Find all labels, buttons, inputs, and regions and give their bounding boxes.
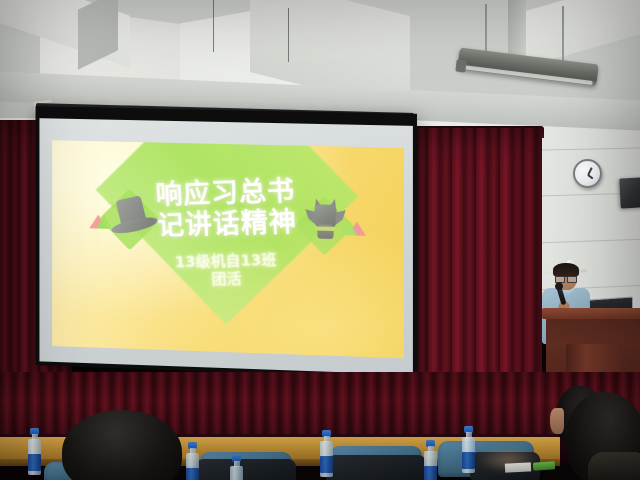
- presentation-room-photo: 响应习总书 记讲话精神 13级机自13班 团活: [0, 0, 640, 480]
- audience-shoulder: [588, 452, 640, 480]
- projected-slide: 响应习总书 记讲话精神 13级机自13班 团活: [52, 140, 404, 358]
- audience-chair[interactable]: [326, 455, 426, 480]
- slide-title: 响应习总书 记讲话精神: [52, 172, 404, 245]
- audience-face: [550, 408, 564, 434]
- bottle-body: [230, 466, 243, 480]
- audience-chair[interactable]: [196, 459, 296, 480]
- bottle-label: [28, 454, 41, 471]
- ceiling-wire: [213, 0, 214, 52]
- paper-sheet: [505, 462, 531, 472]
- bottle-label: [320, 456, 333, 473]
- bottle-label: [462, 452, 475, 469]
- bottle-label: [424, 466, 437, 480]
- projection-screen: 响应习总书 记讲话精神 13级机自13班 团活: [36, 106, 417, 379]
- wall-clock-icon: [573, 159, 602, 188]
- podium-top: [542, 308, 640, 319]
- wall-speaker-icon: [619, 177, 640, 208]
- ceiling-wire: [288, 8, 289, 62]
- screen-surface: 响应习总书 记讲话精神 13级机自13班 团活: [39, 118, 412, 375]
- phone-device: [533, 461, 556, 471]
- slide-subtitle: 13级机自13班 团活: [52, 248, 404, 292]
- podium-shading: [546, 319, 640, 345]
- bottle-label: [186, 468, 199, 480]
- light-end-cap: [455, 59, 466, 72]
- ceiling-beam: [508, 0, 526, 58]
- glasses-icon: [555, 276, 577, 281]
- presenter-hair: [553, 263, 579, 277]
